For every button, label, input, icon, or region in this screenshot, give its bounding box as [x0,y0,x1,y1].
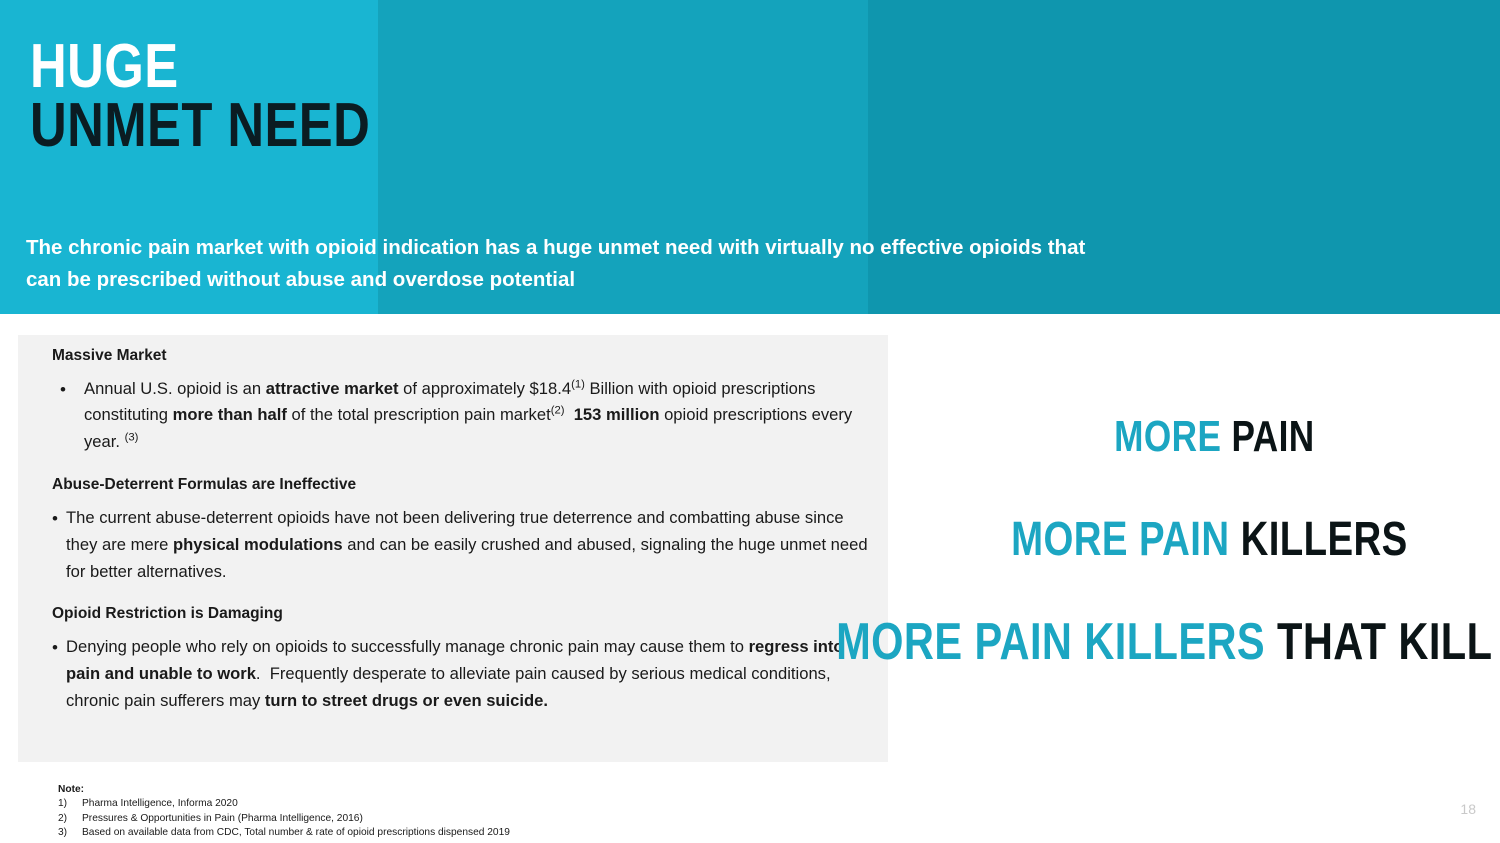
list-item: • Denying people who rely on opioids to … [52,634,874,715]
slogan-line-1: MORE PAIN [1115,412,1315,462]
slogan-3-dark: THAT KILL [1277,613,1492,671]
bullet-text: Annual U.S. opioid is an attractive mark… [84,376,874,457]
page-number: 18 [1460,801,1476,817]
bullet-text: The current abuse-deterrent opioids have… [66,505,874,586]
slogan-1-teal: MORE [1115,412,1232,461]
footnote-text: Based on available data from CDC, Total … [82,826,510,840]
footnote-text: Pressures & Opportunities in Pain (Pharm… [82,812,510,826]
content-panel: Massive Market • Annual U.S. opioid is a… [18,335,888,762]
bullet-dot-icon: • [52,505,66,586]
footnote-label: Note: [58,783,510,797]
section-heading-massive-market: Massive Market [52,347,888,366]
footnote-text: Pharma Intelligence, Informa 2020 [82,797,510,811]
footnote-number: 2) [58,812,82,826]
slogan-3-teal: MORE PAIN KILLERS [836,613,1277,671]
bullet-dot-icon: • [60,376,84,457]
footnote-item: 2) Pressures & Opportunities in Pain (Ph… [58,812,510,826]
slogan-line-3: MORE PAIN KILLERS THAT KILL [836,612,1492,672]
list-item: • The current abuse-deterrent opioids ha… [52,505,874,586]
slogan-1-dark: PAIN [1232,412,1315,461]
footnote-number: 1) [58,797,82,811]
slogan-2-dark: KILLERS [1241,513,1408,566]
page-title-line-2: UNMET NEED [30,97,370,156]
page-subtitle: The chronic pain market with opioid indi… [26,232,1086,296]
footnote-item: 3) Based on available data from CDC, Tot… [58,826,510,840]
section-heading-opioid-restriction: Opioid Restriction is Damaging [52,605,888,624]
slogan-line-2: MORE PAIN KILLERS [1011,512,1408,567]
slide-header-banner: HUGE UNMET NEED The chronic pain market … [0,0,1500,314]
section-heading-abuse-deterrent: Abuse-Deterrent Formulas are Ineffective [52,476,888,495]
page-title-line-1: HUGE [30,38,370,97]
list-item: • Annual U.S. opioid is an attractive ma… [60,376,874,457]
slogan-2-teal: MORE PAIN [1011,513,1240,566]
footnote-item: 1) Pharma Intelligence, Informa 2020 [58,797,510,811]
bullet-dot-icon: • [52,634,66,715]
page-title: HUGE UNMET NEED [30,38,445,156]
footnote-block: Note: 1) Pharma Intelligence, Informa 20… [58,783,510,841]
bullet-text: Denying people who rely on opioids to su… [66,634,874,715]
footnote-number: 3) [58,826,82,840]
slogan-group: MORE PAIN MORE PAIN KILLERS MORE PAIN KI… [890,390,1500,690]
